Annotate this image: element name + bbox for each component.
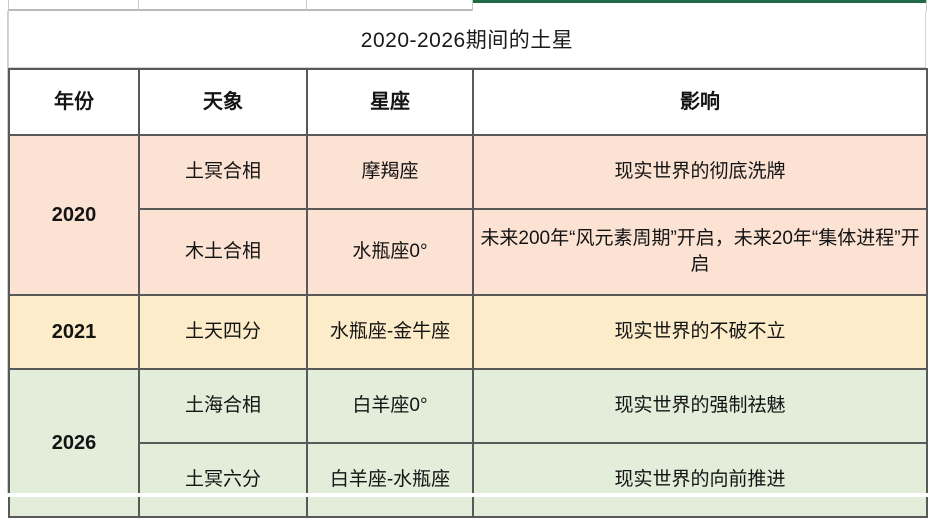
column-header-year[interactable]: 年份 xyxy=(9,69,139,135)
row-header-gutter xyxy=(0,11,8,497)
year-cell-2021[interactable]: 2021 xyxy=(9,295,139,369)
table-row: 木土合相 水瓶座0° 未来200年“风元素周期”开启，未来20年“集体进程”开启 xyxy=(9,209,927,295)
saturn-transit-table: 年份 天象 星座 影响 2020 土冥合相 摩羯座 现实世界的彻底洗牌 木土合相… xyxy=(8,68,928,518)
grid-line-d xyxy=(472,0,473,11)
table-title-cell[interactable]: 2020-2026期间的土星 xyxy=(8,11,926,68)
column-header-sign[interactable]: 星座 xyxy=(307,69,473,135)
page-title: 2020-2026期间的土星 xyxy=(361,24,573,54)
sign-cell[interactable]: 水瓶座-金牛座 xyxy=(307,295,473,369)
selected-cell-top-border xyxy=(472,0,926,3)
event-cell[interactable]: 土天四分 xyxy=(139,295,307,369)
effect-cell[interactable]: 现实世界的不破不立 xyxy=(473,295,927,369)
sign-cell[interactable]: 白羊座-水瓶座 xyxy=(307,443,473,517)
table-row: 土冥六分 白羊座-水瓶座 现实世界的向前推进 xyxy=(9,443,927,517)
sign-cell[interactable]: 水瓶座0° xyxy=(307,209,473,295)
grid-line-a xyxy=(8,0,9,11)
event-cell[interactable]: 土冥六分 xyxy=(139,443,307,517)
year-cell-2020[interactable]: 2020 xyxy=(9,135,139,295)
effect-cell[interactable]: 现实世界的强制祛魅 xyxy=(473,369,927,443)
sign-cell[interactable]: 白羊座0° xyxy=(307,369,473,443)
grid-line-e xyxy=(926,0,927,11)
sign-cell[interactable]: 摩羯座 xyxy=(307,135,473,209)
event-cell[interactable]: 木土合相 xyxy=(139,209,307,295)
effect-cell[interactable]: 现实世界的彻底洗牌 xyxy=(473,135,927,209)
event-cell[interactable]: 土海合相 xyxy=(139,369,307,443)
table-header-row: 年份 天象 星座 影响 xyxy=(9,69,927,135)
grid-line-c xyxy=(306,0,307,11)
grid-line-b xyxy=(138,0,139,11)
column-header-effect[interactable]: 影响 xyxy=(473,69,927,135)
table-row: 2020 土冥合相 摩羯座 现实世界的彻底洗牌 xyxy=(9,135,927,209)
column-header-event[interactable]: 天象 xyxy=(139,69,307,135)
sheet-bottom-sliver xyxy=(0,493,931,497)
effect-cell[interactable]: 现实世界的向前推进 xyxy=(473,443,927,517)
event-cell[interactable]: 土冥合相 xyxy=(139,135,307,209)
spreadsheet-grid-strip xyxy=(0,0,931,11)
table-row: 2026 土海合相 白羊座0° 现实世界的强制祛魅 xyxy=(9,369,927,443)
effect-cell[interactable]: 未来200年“风元素周期”开启，未来20年“集体进程”开启 xyxy=(473,209,927,295)
table-row: 2021 土天四分 水瓶座-金牛座 现实世界的不破不立 xyxy=(9,295,927,369)
